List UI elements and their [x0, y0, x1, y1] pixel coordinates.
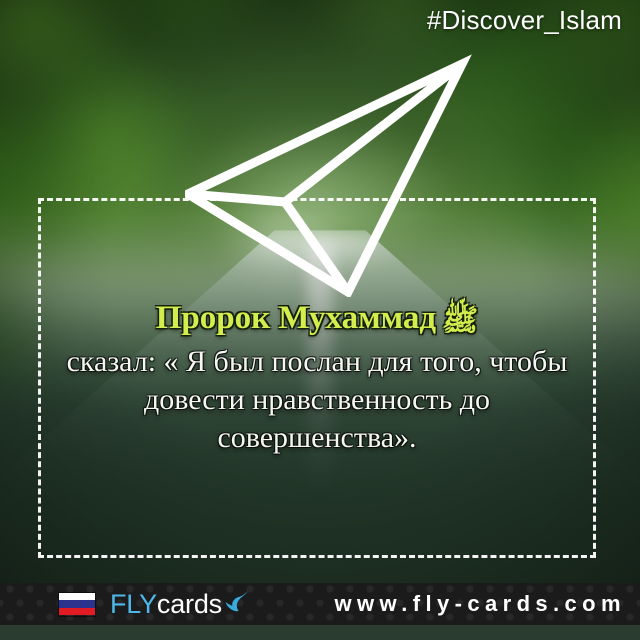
quote-block: Пророк Мухаммадﷺ сказал: « Я был послан …	[38, 300, 596, 458]
brand-logo[interactable]: FLYcards	[110, 589, 249, 620]
quote-heading: Пророк Мухаммадﷺ	[38, 300, 596, 339]
bird-icon	[223, 590, 249, 612]
brand-primary-text: FLY	[110, 589, 157, 620]
pbuh-symbol-icon: ﷺ	[442, 303, 478, 338]
flag-stripe-red	[59, 608, 95, 616]
discover-islam-card: #Discover_Islam Пророк Мухаммадﷺ сказал:…	[0, 0, 640, 640]
website-url[interactable]: www.fly-cards.com	[335, 591, 627, 617]
quote-body: сказал: « Я был послан для того, чтобы д…	[38, 343, 596, 458]
footer-bar: FLYcards www.fly-cards.com	[0, 583, 640, 625]
flag-stripe-blue	[59, 600, 95, 608]
footer-under-strip	[0, 625, 640, 640]
flag-stripe-white	[59, 593, 95, 601]
russian-flag-icon	[58, 592, 96, 617]
brand-secondary-text: cards	[157, 589, 222, 620]
quote-heading-text: Пророк Мухаммад	[156, 300, 436, 336]
hashtag-label: #Discover_Islam	[427, 5, 622, 36]
